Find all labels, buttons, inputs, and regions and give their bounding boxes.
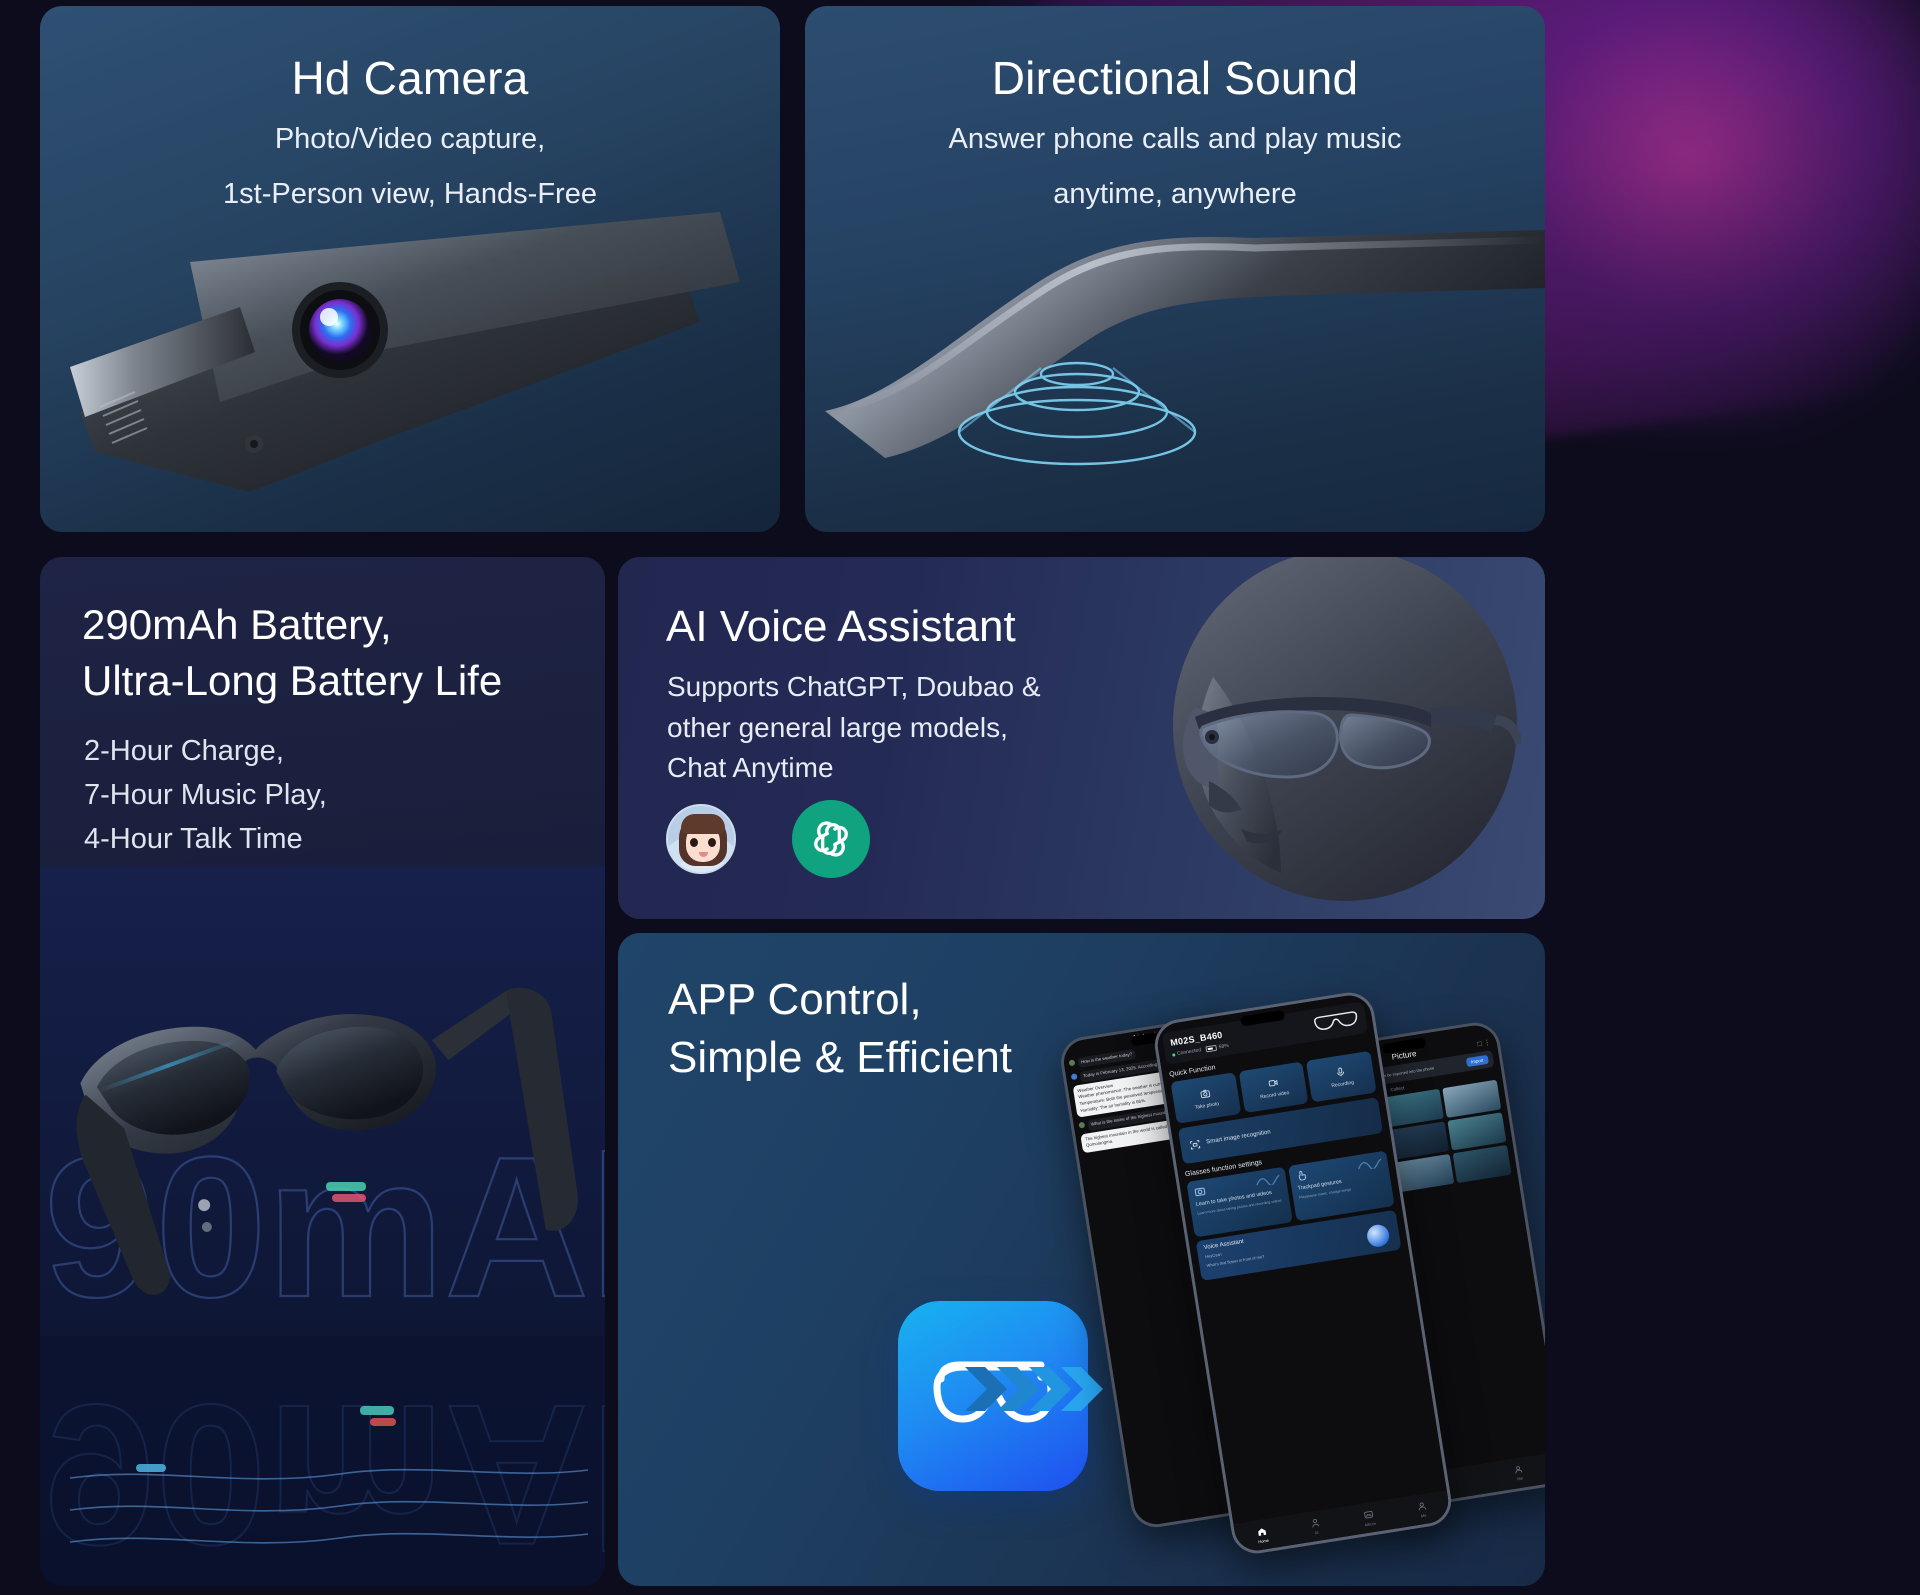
battery-title-line2: Ultra-Long Battery Life — [82, 653, 502, 709]
mic-icon — [1334, 1065, 1347, 1078]
home-icon — [1256, 1525, 1267, 1536]
battery-glasses-image: 290mAh 290mAh — [40, 866, 605, 1586]
hd-camera-subtitle-line1: Photo/Video capture, — [40, 119, 780, 160]
gallery-thumb[interactable] — [1447, 1112, 1506, 1150]
battery-title-line1: 290mAh Battery, — [82, 597, 502, 653]
camera-icon — [1199, 1087, 1212, 1100]
nav-item-me[interactable]: Me — [1416, 1500, 1429, 1518]
nav-label: Me — [1517, 1476, 1523, 1482]
gallery-thumb[interactable] — [1395, 1154, 1454, 1192]
nav-label: AI — [1314, 1529, 1319, 1535]
hd-camera-header: Hd Camera Photo/Video capture, 1st-Perso… — [40, 6, 780, 215]
app-control-title: APP Control, Simple & Efficient — [668, 971, 1012, 1087]
doubao-avatar-icon — [666, 804, 736, 874]
person-icon — [1514, 1464, 1524, 1474]
gallery-thumb[interactable] — [1442, 1080, 1501, 1118]
card-ai-voice-assistant: AI Voice Assistant Supports ChatGPT, Dou… — [618, 557, 1545, 919]
smart-image-recognition-label: Smart image recognition — [1206, 1129, 1271, 1145]
touch-icon — [1295, 1168, 1309, 1182]
battery-percent: 58% — [1218, 1043, 1229, 1050]
card-directional-sound: Directional Sound Answer phone calls and… — [805, 6, 1545, 532]
gallery-thumb[interactable] — [1389, 1121, 1448, 1159]
phone-mid-bottom-nav: Home AI Album Me — [1233, 1490, 1451, 1553]
quick-tile-label: Record video — [1260, 1089, 1290, 1100]
directional-sound-header: Directional Sound Answer phone calls and… — [805, 6, 1545, 215]
album-icon — [1363, 1508, 1374, 1519]
nav-item-home[interactable]: Home — [1256, 1525, 1269, 1543]
smart-recognition-icon — [1189, 1138, 1202, 1151]
product-feature-page: Hd Camera Photo/Video capture, 1st-Perso… — [0, 0, 1920, 1595]
battery-title: 290mAh Battery, Ultra-Long Battery Life — [82, 597, 502, 709]
person-icon — [1416, 1500, 1427, 1511]
ai-voice-title: AI Voice Assistant — [666, 603, 1016, 651]
directional-sound-subtitle-line1: Answer phone calls and play music — [805, 119, 1545, 160]
nav-item-ai[interactable]: AI — [1309, 1517, 1322, 1535]
quick-tile-label: Recording — [1331, 1079, 1354, 1088]
nav-label: Home — [1258, 1537, 1269, 1544]
ai-voice-subtitle: Supports ChatGPT, Doubao & other general… — [667, 667, 1041, 789]
wave-decor-icon — [1254, 1173, 1281, 1187]
setting-tile-trackpad[interactable]: Trackpad gestures Play/pause music, chan… — [1288, 1151, 1395, 1222]
battery-specs-list: 2-Hour Charge, 7-Hour Music Play, 4-Hour… — [84, 729, 327, 861]
quick-tile-record-video[interactable]: Record video — [1238, 1062, 1308, 1114]
nav-item-album[interactable]: Album — [1362, 1508, 1376, 1527]
setting-tile-learn-photos[interactable]: Learn to take photos and videos Learn mo… — [1186, 1167, 1293, 1238]
glasses-camera-image — [40, 202, 780, 532]
nav-item-me[interactable]: Me — [1514, 1464, 1525, 1481]
model-head-glasses-image — [1045, 557, 1545, 919]
app-control-title-line1: APP Control, — [668, 971, 1012, 1029]
app-control-title-line2: Simple & Efficient — [668, 1029, 1012, 1087]
battery-spec-item: 4-Hour Talk Time — [84, 817, 327, 861]
quick-tile-recording[interactable]: Recording — [1306, 1051, 1376, 1103]
ai-voice-subtitle-line1: Supports ChatGPT, Doubao & — [667, 667, 1041, 708]
glasses-icon — [1312, 1008, 1361, 1035]
battery-spec-item: 7-Hour Music Play, — [84, 773, 327, 817]
video-icon — [1267, 1076, 1280, 1089]
ai-voice-subtitle-line3: Chat Anytime — [667, 748, 1041, 789]
card-app-control: APP Control, Simple & Efficient — [618, 933, 1545, 1586]
wave-decor-icon — [1356, 1157, 1383, 1171]
quick-tile-label: Take photo — [1194, 1101, 1219, 1111]
ai-partner-logos — [666, 800, 870, 878]
hd-camera-title: Hd Camera — [40, 52, 780, 105]
battery-status: 58% — [1206, 1043, 1230, 1053]
nav-label: Album — [1364, 1520, 1376, 1527]
ai-icon — [1309, 1517, 1320, 1528]
gallery-actions-icon[interactable]: □ ⋮ — [1477, 1038, 1491, 1048]
flow-arrows — [963, 1363, 1113, 1415]
card-hd-camera: Hd Camera Photo/Video capture, 1st-Perso… — [40, 6, 780, 532]
battery-spec-item: 2-Hour Charge, — [84, 729, 327, 773]
quick-tile-take-photo[interactable]: Take photo — [1171, 1072, 1241, 1124]
camera-icon — [1193, 1184, 1207, 1198]
connection-status: Connected — [1172, 1047, 1202, 1057]
gallery-thumb[interactable] — [1452, 1145, 1511, 1183]
directional-sound-title: Directional Sound — [805, 52, 1545, 105]
chatgpt-logo-icon — [792, 800, 870, 878]
app-screenshots-group: AI Assistant How is the weather today? T… — [1108, 985, 1538, 1585]
temple-speaker-image — [805, 196, 1545, 532]
connection-status-label: Connected — [1177, 1047, 1202, 1057]
nav-label: Me — [1420, 1512, 1426, 1518]
ai-voice-subtitle-line2: other general large models, — [667, 708, 1041, 749]
import-button[interactable]: Import — [1465, 1055, 1489, 1067]
gallery-thumb[interactable] — [1384, 1089, 1443, 1127]
card-battery: 290mAh Battery, Ultra-Long Battery Life … — [40, 557, 605, 1586]
